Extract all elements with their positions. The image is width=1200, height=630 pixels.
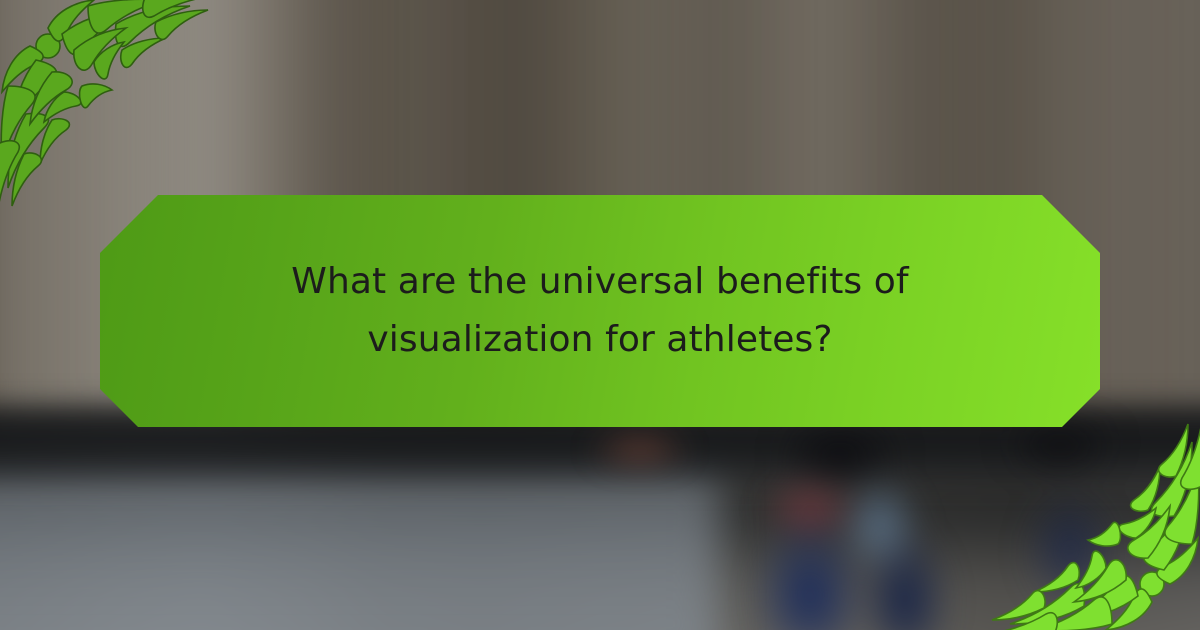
question-text: What are the universal benefits of visua… [210,253,990,370]
background-figure-blur [690,430,990,630]
floral-corner-ornament-icon [988,420,1200,630]
floral-corner-ornament-icon [0,0,212,210]
question-banner: What are the universal benefits of visua… [100,195,1100,427]
image-canvas: What are the universal benefits of visua… [0,0,1200,630]
